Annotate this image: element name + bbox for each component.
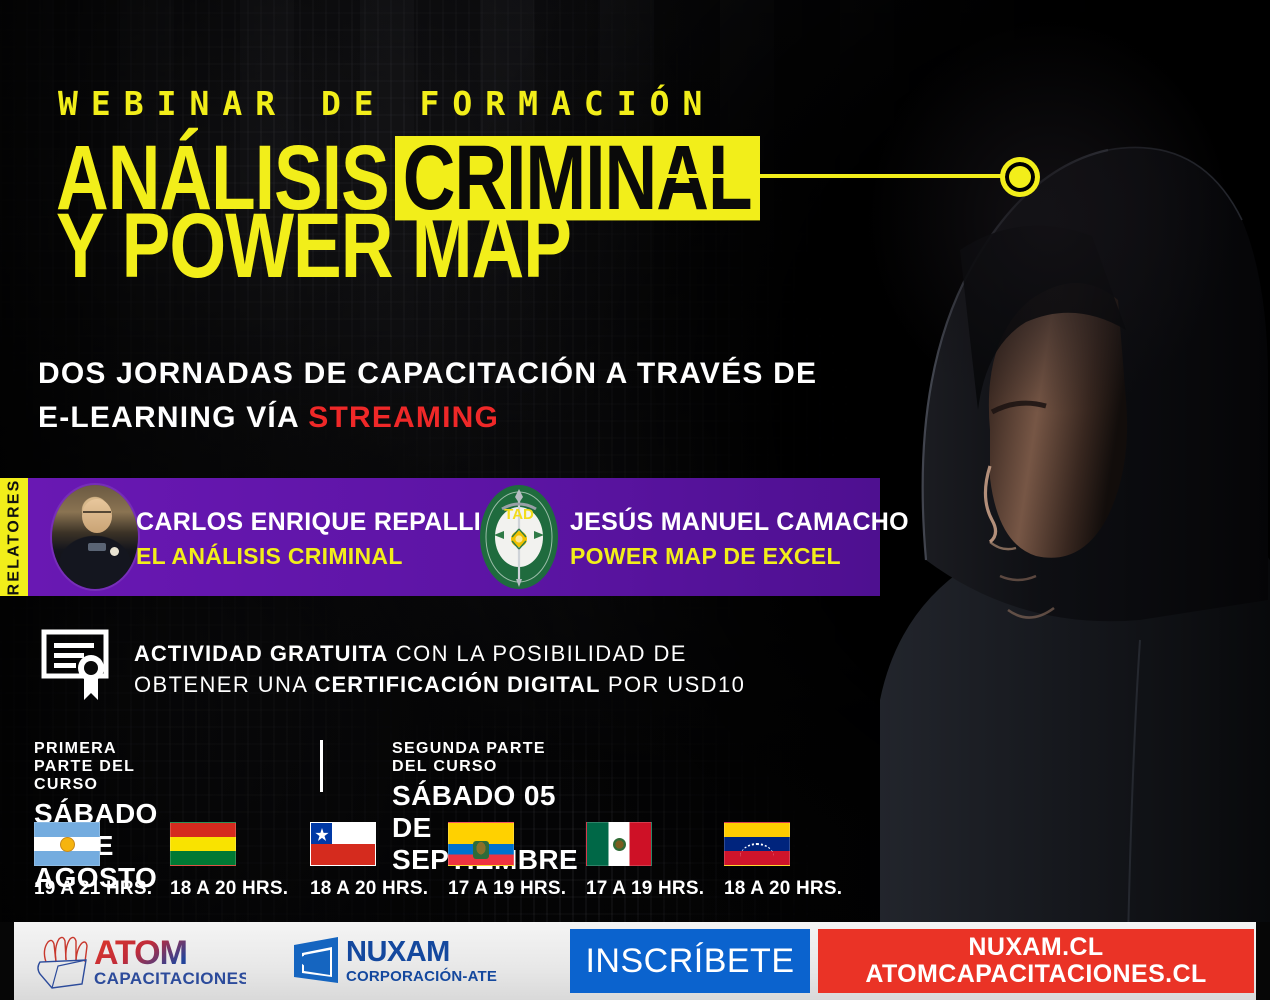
certification-tail: POR USD10 bbox=[600, 672, 745, 697]
schedule-time-mexico: 17 A 19 HRS. bbox=[586, 878, 724, 900]
headline-line-1: ANÁLISISCRIMINAL bbox=[56, 136, 760, 203]
atom-capacitaciones-logo: ATOM CAPACITACIONES bbox=[32, 930, 246, 992]
atom-hand-icon bbox=[44, 937, 87, 962]
svg-text:CORPORACIÓN-ATE: CORPORACIÓN-ATE bbox=[346, 967, 497, 985]
webinar-poster: WEBINAR DE FORMACIÓN ANÁLISISCRIMINAL Y … bbox=[0, 0, 1270, 1000]
bolivia-flag-icon bbox=[170, 822, 236, 866]
svg-text:TAD: TAD bbox=[504, 506, 534, 523]
ecuador-emblem bbox=[473, 841, 489, 859]
hooded-figure-glow bbox=[780, 0, 1270, 520]
argentina-sun bbox=[61, 838, 74, 851]
mexico-emblem bbox=[613, 838, 626, 851]
certification-line-2: OBTENER UNA CERTIFICACIÓN DIGITAL POR US… bbox=[134, 669, 745, 700]
inscribete-button[interactable]: INSCRÍBETE bbox=[570, 929, 810, 993]
leader-dot-icon bbox=[1000, 157, 1040, 197]
subtitle-accent: STREAMING bbox=[308, 401, 499, 434]
svg-text:CAPACITACIONES: CAPACITACIONES bbox=[94, 969, 246, 988]
headline-line-2-text: Y POWER MAP bbox=[56, 204, 571, 289]
certification-mid-1: CON LA POSIBILIDAD DE bbox=[388, 641, 687, 666]
speaker-1-topic: EL ANÁLISIS CRIMINAL bbox=[136, 543, 403, 570]
speaker-1-name: CARLOS ENRIQUE REPALLI bbox=[136, 508, 481, 537]
headline-line-2: Y POWER MAP bbox=[56, 204, 571, 271]
certification-bold-2: CERTIFICACIÓN DIGITAL bbox=[315, 672, 601, 697]
leader-line bbox=[660, 174, 1005, 178]
speakers-section-label: RELATORES bbox=[0, 478, 28, 596]
subtitle-line-2: E-LEARNING VÍA STREAMING bbox=[38, 396, 817, 440]
venezuela-stars-arc bbox=[740, 843, 774, 857]
schedule-cell-chile: 18 A 20 HRS. bbox=[310, 822, 448, 900]
certification-mid-2: OBTENER UNA bbox=[134, 672, 315, 697]
schedule-time-argentina: 19 A 21 HRS. bbox=[34, 878, 172, 900]
nuxam-corporacion-logo: NUXAM CORPORACIÓN-ATE bbox=[292, 933, 514, 989]
schedule-time-venezuela: 18 A 20 HRS. bbox=[724, 878, 862, 900]
schedule-cell-ecuador: 17 A 19 HRS. bbox=[448, 822, 586, 900]
website-atom[interactable]: ATOMCAPACITACIONES.CL bbox=[865, 961, 1206, 988]
date-2-label: SEGUNDA PARTE DEL CURSO bbox=[392, 740, 578, 776]
dates-divider bbox=[320, 740, 323, 792]
schedule-time-bolivia: 18 A 20 HRS. bbox=[170, 878, 308, 900]
chile-red-band bbox=[311, 844, 375, 865]
tad-emblem-icon: TAD bbox=[478, 483, 560, 591]
page-kicker: WEBINAR DE FORMACIÓN bbox=[58, 84, 715, 123]
chile-flag-icon bbox=[310, 822, 376, 866]
speaker-2-topic: POWER MAP DE EXCEL bbox=[570, 543, 841, 570]
subtitle-line-2-prefix: E-LEARNING VÍA bbox=[38, 401, 308, 434]
schedule-time-chile: 18 A 20 HRS. bbox=[310, 878, 448, 900]
schedule-cell-venezuela: 18 A 20 HRS. bbox=[724, 822, 862, 900]
websites-banner[interactable]: NUXAM.CL ATOMCAPACITACIONES.CL bbox=[818, 929, 1254, 993]
avatar-boutonniere bbox=[110, 547, 119, 556]
schedule-time-ecuador: 17 A 19 HRS. bbox=[448, 878, 586, 900]
argentina-flag-icon bbox=[34, 822, 100, 866]
avatar-glasses bbox=[83, 511, 111, 517]
footer-left-edge bbox=[0, 922, 14, 1000]
page-subtitle: DOS JORNADAS DE CAPACITACIÓN A TRAVÉS DE… bbox=[38, 352, 817, 439]
website-nuxam[interactable]: NUXAM.CL bbox=[968, 934, 1103, 961]
certification-text: ACTIVIDAD GRATUITA CON LA POSIBILIDAD DE… bbox=[134, 638, 745, 700]
speaker-1-avatar bbox=[52, 485, 138, 589]
svg-text:NUXAM: NUXAM bbox=[346, 936, 450, 968]
schedule-cell-bolivia: 18 A 20 HRS. bbox=[170, 822, 308, 900]
speakers-section-label-text: RELATORES bbox=[5, 479, 23, 596]
svg-text:ATOM: ATOM bbox=[94, 934, 187, 972]
mexico-flag-icon bbox=[586, 822, 652, 866]
ecuador-flag-icon bbox=[448, 822, 514, 866]
footer-right-edge bbox=[1256, 922, 1270, 1000]
speaker-2-name: JESÚS MANUEL CAMACHO bbox=[570, 508, 909, 537]
schedule-cell-mexico: 17 A 19 HRS. bbox=[586, 822, 724, 900]
chile-star bbox=[315, 828, 329, 842]
avatar-bowtie bbox=[88, 543, 106, 551]
schedule-cell-argentina: 19 A 21 HRS. bbox=[34, 822, 172, 900]
venezuela-flag-icon bbox=[724, 822, 790, 866]
certificate-icon bbox=[40, 628, 118, 702]
certification-bold-1: ACTIVIDAD GRATUITA bbox=[134, 641, 388, 666]
date-1-label: PRIMERA PARTE DEL CURSO bbox=[34, 740, 158, 794]
subtitle-line-1: DOS JORNADAS DE CAPACITACIÓN A TRAVÉS DE bbox=[38, 352, 817, 396]
hooded-figure bbox=[840, 0, 1270, 940]
certification-line-1: ACTIVIDAD GRATUITA CON LA POSIBILIDAD DE bbox=[134, 638, 745, 669]
